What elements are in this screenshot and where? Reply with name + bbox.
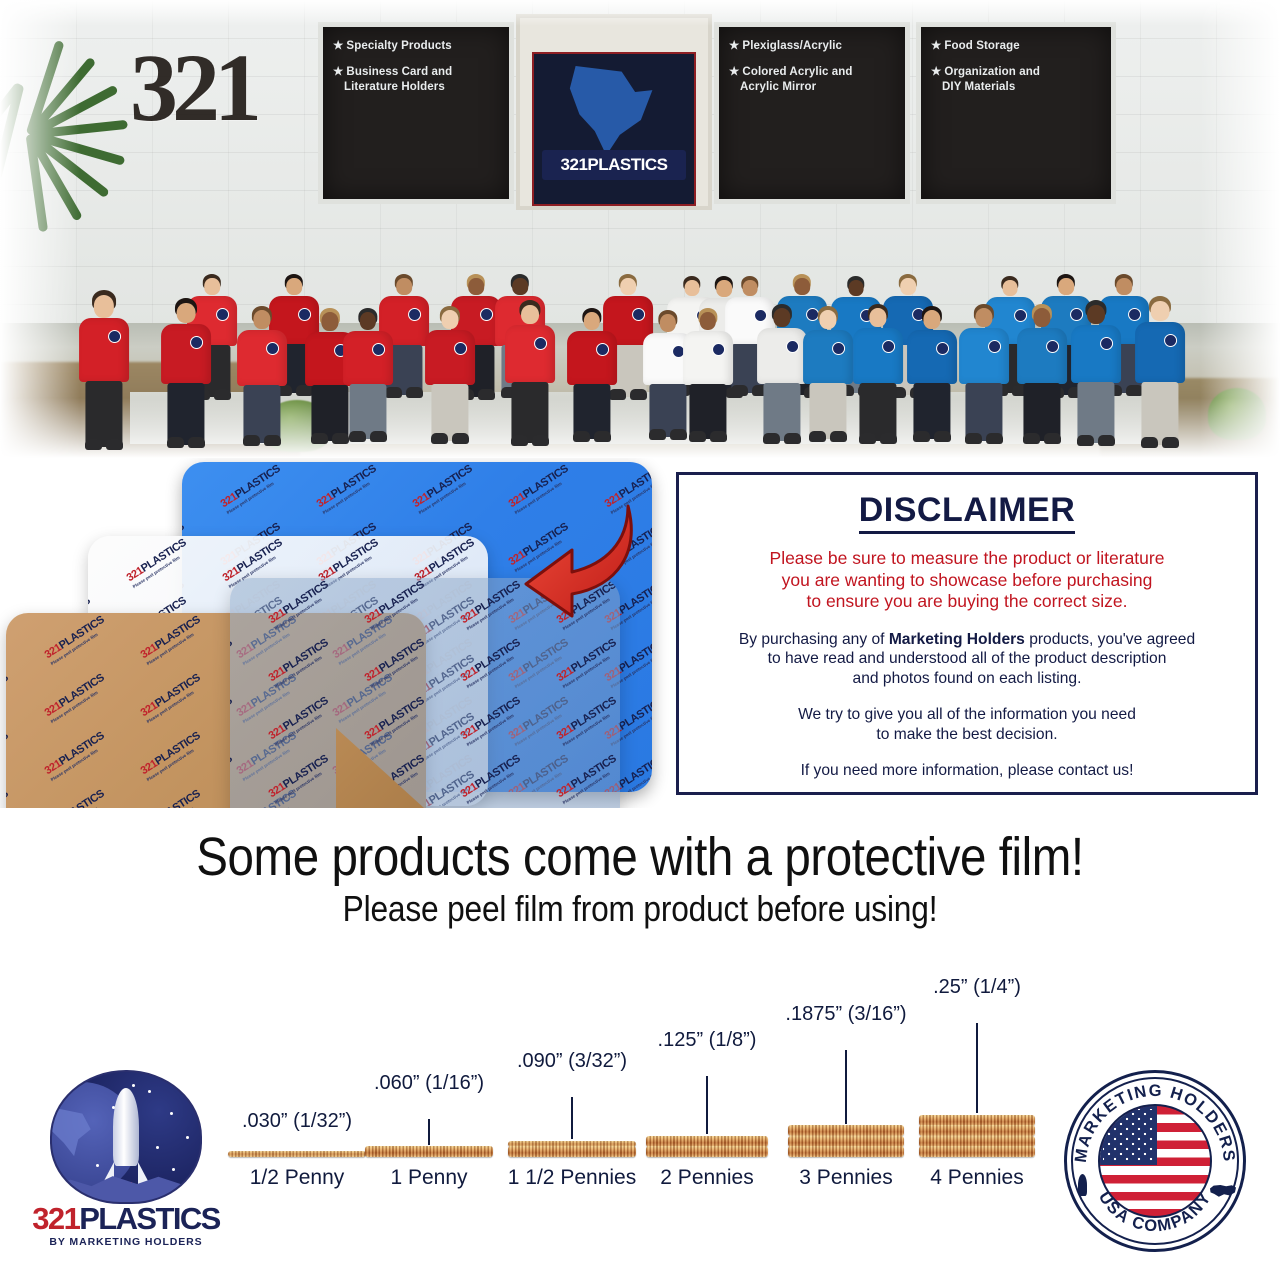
team-member [903, 306, 961, 442]
company-logo-badge [1046, 340, 1059, 353]
face [900, 278, 916, 295]
disclaimer-p2-line1: By purchasing any of Marketing Holders p… [739, 630, 1195, 650]
film-watermark-text: 321PLASTICSPlease peel protective film [267, 753, 334, 805]
penny-count-label: 4 Pennies [930, 1165, 1023, 1190]
star-icon: ★ [931, 66, 941, 78]
shoe [264, 435, 281, 446]
company-logo-badge [936, 342, 949, 355]
film-watermark-text: 321PLASTICSPlease peel protective film [555, 695, 620, 747]
disclaimer-warning: Please be sure to measure the product or… [770, 548, 1165, 613]
penny-thickness-label: .1875” (3/16”) [785, 1002, 906, 1026]
film-watermark-text: 321PLASTICSPlease peel protective film [267, 695, 334, 747]
shirt [853, 328, 903, 384]
rocket-body-icon [113, 1088, 139, 1166]
penny-coin-icon [919, 1146, 1035, 1157]
photo-fade-left [0, 0, 80, 458]
peel-arrow-icon [520, 500, 640, 620]
door-logo-text: 321PLASTICS [542, 150, 686, 180]
storefront-window-right: ★Food Storage ★Organization and DIY Mate… [916, 22, 1116, 204]
shirt [907, 330, 957, 384]
film-watermark-text: 321PLASTICSPlease peel protective film [219, 463, 286, 515]
shirt [79, 318, 129, 382]
face [584, 312, 600, 330]
face [620, 278, 636, 295]
film-watermark-text: 321PLASTICSPlease peel protective film [182, 463, 190, 515]
door-banner: 321PLASTICS [532, 52, 696, 206]
team-member [233, 306, 291, 446]
film-watermark-text: 321PLASTICSPlease peel protective film [43, 788, 110, 808]
face [321, 312, 338, 331]
shirt [343, 331, 393, 385]
company-logo-badge [596, 343, 609, 356]
face [773, 308, 790, 327]
shoe [243, 435, 260, 446]
face [1003, 280, 1018, 296]
shirt [425, 330, 475, 385]
headline-primary: Some products come with a protective fil… [77, 826, 1203, 888]
film-watermark-text: 321PLASTICSPlease peel protective film [6, 788, 14, 808]
shoe [830, 431, 847, 442]
film-watermark-text: 321PLASTICSPlease peel protective film [363, 637, 430, 689]
film-watermark-text: 321PLASTICSPlease peel protective film [139, 672, 206, 724]
film-watermark-text: 321PLASTICSPlease peel protective film [125, 537, 192, 589]
penny-stack [788, 1126, 904, 1158]
company-logo-badge [712, 343, 725, 356]
logo-321-plastics: 321PLASTICS BY MARKETING HOLDERS [28, 1070, 224, 1250]
film-watermark-text: 321PLASTICSPlease peel protective film [230, 637, 238, 689]
shoe [532, 435, 549, 446]
penny-leader-line [976, 1023, 978, 1113]
penny-stack [508, 1141, 636, 1157]
penny-count-label: 1 Penny [390, 1165, 467, 1190]
continent-graphic [50, 1108, 98, 1164]
face [253, 310, 270, 329]
penny-coin-icon [788, 1125, 904, 1136]
shoe [689, 431, 706, 442]
film-watermark-text: 321PLASTICSPlease peel protective film [315, 463, 382, 515]
shirt [803, 330, 853, 384]
film-watermark-text: 321PLASTICSPlease peel protective film [43, 614, 110, 666]
shirt [237, 330, 287, 386]
face [975, 308, 992, 327]
face [849, 280, 864, 296]
shoe [934, 431, 951, 442]
shoe [106, 439, 123, 450]
company-logo-badge [832, 342, 845, 355]
disclaimer-box: DISCLAIMER Please be sure to measure the… [676, 472, 1258, 795]
storefront-window-middle: ★Plexiglass/Acrylic ★Colored Acrylic and… [714, 22, 910, 204]
shoe [167, 437, 184, 448]
penny-count-label: 1 1/2 Pennies [508, 1165, 636, 1190]
team-member [157, 298, 215, 448]
face [923, 310, 940, 329]
pants [85, 381, 122, 447]
film-watermark-text: 321PLASTICSPlease peel protective film [555, 753, 620, 805]
team-member [421, 306, 479, 444]
penny-leader-line [845, 1050, 847, 1124]
shoe [594, 431, 611, 442]
face [869, 308, 886, 327]
logo-word: PLASTICS [79, 1201, 220, 1236]
shoe [431, 433, 448, 444]
face [1151, 301, 1170, 322]
face [743, 280, 758, 296]
penny-count-label: 3 Pennies [799, 1165, 892, 1190]
film-watermark-text: 321PLASTICSPlease peel protective film [459, 637, 526, 689]
shirt [683, 331, 733, 385]
face [794, 278, 810, 295]
pants [1141, 382, 1178, 445]
penny-thickness-label: .030” (1/32”) [242, 1109, 352, 1133]
film-watermark-text: 321PLASTICSPlease peel protective film [459, 579, 526, 631]
window-sign-item: ★Colored Acrylic and Acrylic Mirror [729, 65, 897, 95]
film-watermark-text: 321PLASTICSPlease peel protective film [363, 579, 430, 631]
storefront-window-left: ★Specialty Products ★Business Card and L… [318, 22, 514, 204]
pants [167, 383, 204, 445]
face [94, 295, 114, 317]
film-watermark-text: 321PLASTICSPlease peel protective film [411, 463, 478, 515]
penny-coin-icon [788, 1146, 904, 1157]
building-number-sign: 321 [130, 18, 226, 158]
shirt [1135, 322, 1185, 383]
infographic-page: 321 ★Specialty Products ★Business Card a… [0, 0, 1280, 1280]
shoe [214, 389, 231, 400]
company-logo-badge [988, 340, 1001, 353]
svg-text:MARKETING HOLDERS: MARKETING HOLDERS [1072, 1082, 1238, 1164]
logo-tagline: BY MARKETING HOLDERS [28, 1236, 224, 1248]
film-watermark-text: 321PLASTICSPlease peel protective film [6, 730, 14, 782]
marketing-holders-usa-seal: MARKETING HOLDERS USA COMPANY [1064, 1070, 1246, 1252]
penny-stack [365, 1147, 493, 1158]
team-member [955, 304, 1013, 444]
film-watermark-text: 321PLASTICSPlease peel protective film [139, 730, 206, 782]
shoe [511, 435, 528, 446]
svg-text:USA COMPANY: USA COMPANY [1095, 1189, 1215, 1236]
face [360, 312, 376, 330]
company-logo-badge [408, 308, 421, 321]
penny-coin-icon [646, 1146, 768, 1157]
film-watermark-text: 321PLASTICSPlease peel protective film [267, 637, 334, 689]
photo-fade-right [1200, 0, 1280, 458]
star-icon: ★ [729, 66, 739, 78]
team-member [563, 308, 621, 442]
film-watermark-text: 321PLASTICSPlease peel protective film [88, 537, 96, 589]
shoe [986, 433, 1003, 444]
team-member [339, 308, 397, 442]
film-watermark-text: 321PLASTICSPlease peel protective film [267, 579, 334, 631]
penny-coin-icon [646, 1136, 768, 1147]
face [441, 310, 458, 329]
penny-stack [228, 1152, 366, 1158]
shirt [567, 331, 617, 385]
company-logo-badge [108, 330, 121, 343]
team-member [679, 308, 737, 442]
film-watermark-text: 321PLASTICSPlease peel protective film [6, 614, 14, 666]
disclaimer-paragraph-2: By purchasing any of Marketing Holders p… [739, 630, 1195, 689]
penny-coin-icon [919, 1115, 1035, 1126]
photo-fade-top [0, 0, 1280, 26]
rocket-emblem-icon [50, 1070, 202, 1204]
shoe [85, 439, 102, 450]
film-watermark-text: 321PLASTICSPlease peel protective film [139, 614, 206, 666]
penny-leader-line [571, 1097, 573, 1139]
shoe [880, 433, 897, 444]
film-watermark-text: 321PLASTICSPlease peel protective film [459, 753, 526, 805]
shoe [188, 437, 205, 448]
penny-count-label: 1/2 Penny [250, 1165, 345, 1190]
half-penny-coin-icon [228, 1151, 366, 1157]
shoe [573, 431, 590, 442]
penny-thickness-label: .090” (3/32”) [517, 1049, 627, 1073]
penny-stack [646, 1136, 768, 1157]
headline-secondary: Please peel film from product before usi… [77, 887, 1203, 931]
disclaimer-title: DISCLAIMER [859, 489, 1076, 534]
shoe [370, 431, 387, 442]
company-logo-badge [786, 340, 799, 353]
penny-count-label: 2 Pennies [660, 1165, 753, 1190]
logo-number: 321 [32, 1201, 79, 1236]
team-member [849, 304, 907, 444]
film-watermark-text: 321PLASTICSPlease peel protective film [230, 579, 238, 631]
penny-thickness-label: .060” (1/16”) [374, 1071, 484, 1095]
shoe [763, 433, 780, 444]
star-icon: ★ [333, 66, 343, 78]
pants [1077, 382, 1114, 443]
pants [511, 382, 548, 443]
company-logo-badge [216, 308, 229, 321]
film-watermark-text: 321PLASTICSPlease peel protective film [230, 753, 238, 805]
team-member [75, 290, 133, 450]
shoe [649, 429, 666, 440]
face [1116, 278, 1132, 295]
team-member [1067, 300, 1125, 446]
face [204, 278, 220, 295]
face [521, 305, 539, 325]
face [1087, 305, 1105, 325]
shirt [1071, 325, 1121, 383]
team-member [1013, 304, 1071, 444]
disclaimer-paragraph-4: If you need more information, please con… [801, 761, 1134, 781]
shoe [349, 431, 366, 442]
shirt [1017, 328, 1067, 384]
star-icon: ★ [931, 40, 941, 52]
face [1033, 308, 1050, 327]
film-watermark-text: 321PLASTICSPlease peel protective film [230, 695, 238, 747]
window-sign-item: ★Organization and DIY Materials [931, 65, 1103, 95]
face [819, 310, 836, 329]
window-sign-item: ★Business Card and Literature Holders [333, 65, 501, 95]
penny-thickness-label: .125” (1/8”) [658, 1028, 757, 1052]
film-watermark-text: 321PLASTICSPlease peel protective film [6, 672, 14, 724]
penny-coin-icon [365, 1146, 493, 1157]
film-watermark-text: 321PLASTICSPlease peel protective film [139, 788, 206, 808]
face [286, 278, 302, 295]
face [1058, 278, 1074, 295]
shirt [161, 324, 211, 384]
face [660, 314, 676, 332]
shirt [505, 325, 555, 383]
seal-curved-text: MARKETING HOLDERS USA COMPANY [1064, 1070, 1246, 1252]
world-map-graphic [566, 66, 662, 159]
shirt [959, 328, 1009, 384]
company-logo-badge [372, 343, 385, 356]
shoe [1098, 435, 1115, 446]
shoe [1162, 437, 1179, 448]
team-member [1131, 296, 1189, 448]
shoe [452, 433, 469, 444]
window-sign-item: ★Food Storage [931, 39, 1103, 54]
face [512, 278, 528, 295]
company-logo-badge [1100, 337, 1113, 350]
star-icon: ★ [729, 40, 739, 52]
shoe [311, 433, 328, 444]
face [700, 312, 716, 330]
film-watermark-text: 321PLASTICSPlease peel protective film [43, 672, 110, 724]
face [396, 278, 412, 295]
penny-stack [919, 1115, 1035, 1157]
shoe [859, 433, 876, 444]
shoe [1141, 437, 1158, 448]
shoe [1077, 435, 1094, 446]
penny-coin-icon [508, 1146, 636, 1157]
company-logo-badge [534, 337, 547, 350]
film-watermark-text: 321PLASTICSPlease peel protective film [363, 695, 430, 747]
film-watermark-text: 321PLASTICSPlease peel protective film [459, 695, 526, 747]
penny-coin-icon [919, 1125, 1035, 1136]
penny-coin-icon [788, 1136, 904, 1147]
face [177, 303, 196, 324]
company-logo-badge [190, 336, 203, 349]
film-watermark-text: 321PLASTICSPlease peel protective film [43, 730, 110, 782]
shoe [965, 433, 982, 444]
team-member [501, 300, 559, 446]
shoe [710, 431, 727, 442]
star-icon: ★ [333, 40, 343, 52]
penny-leader-line [706, 1076, 708, 1134]
company-logo-badge [454, 342, 467, 355]
penny-thickness-label: .25” (1/4”) [933, 975, 1021, 999]
logo-wordmark: 321PLASTICS [28, 1202, 224, 1236]
face [468, 278, 484, 295]
window-sign-item: ★Plexiglass/Acrylic [729, 39, 897, 54]
disclaimer-paragraph-3: We try to give you all of the informatio… [798, 705, 1136, 744]
shoe [1044, 433, 1061, 444]
company-logo-badge [266, 342, 279, 355]
penny-coin-icon [919, 1136, 1035, 1147]
team-photo: 321 ★Specialty Products ★Business Card a… [0, 0, 1280, 458]
window-sign-item: ★Specialty Products [333, 39, 501, 54]
company-logo-badge [1164, 334, 1177, 347]
shoe [913, 431, 930, 442]
shoe [1023, 433, 1040, 444]
film-watermark-text: 321PLASTICSPlease peel protective film [555, 637, 620, 689]
shoe [809, 431, 826, 442]
storefront-door: 321PLASTICS [516, 14, 712, 210]
penny-leader-line [428, 1119, 430, 1145]
company-logo-badge [882, 340, 895, 353]
